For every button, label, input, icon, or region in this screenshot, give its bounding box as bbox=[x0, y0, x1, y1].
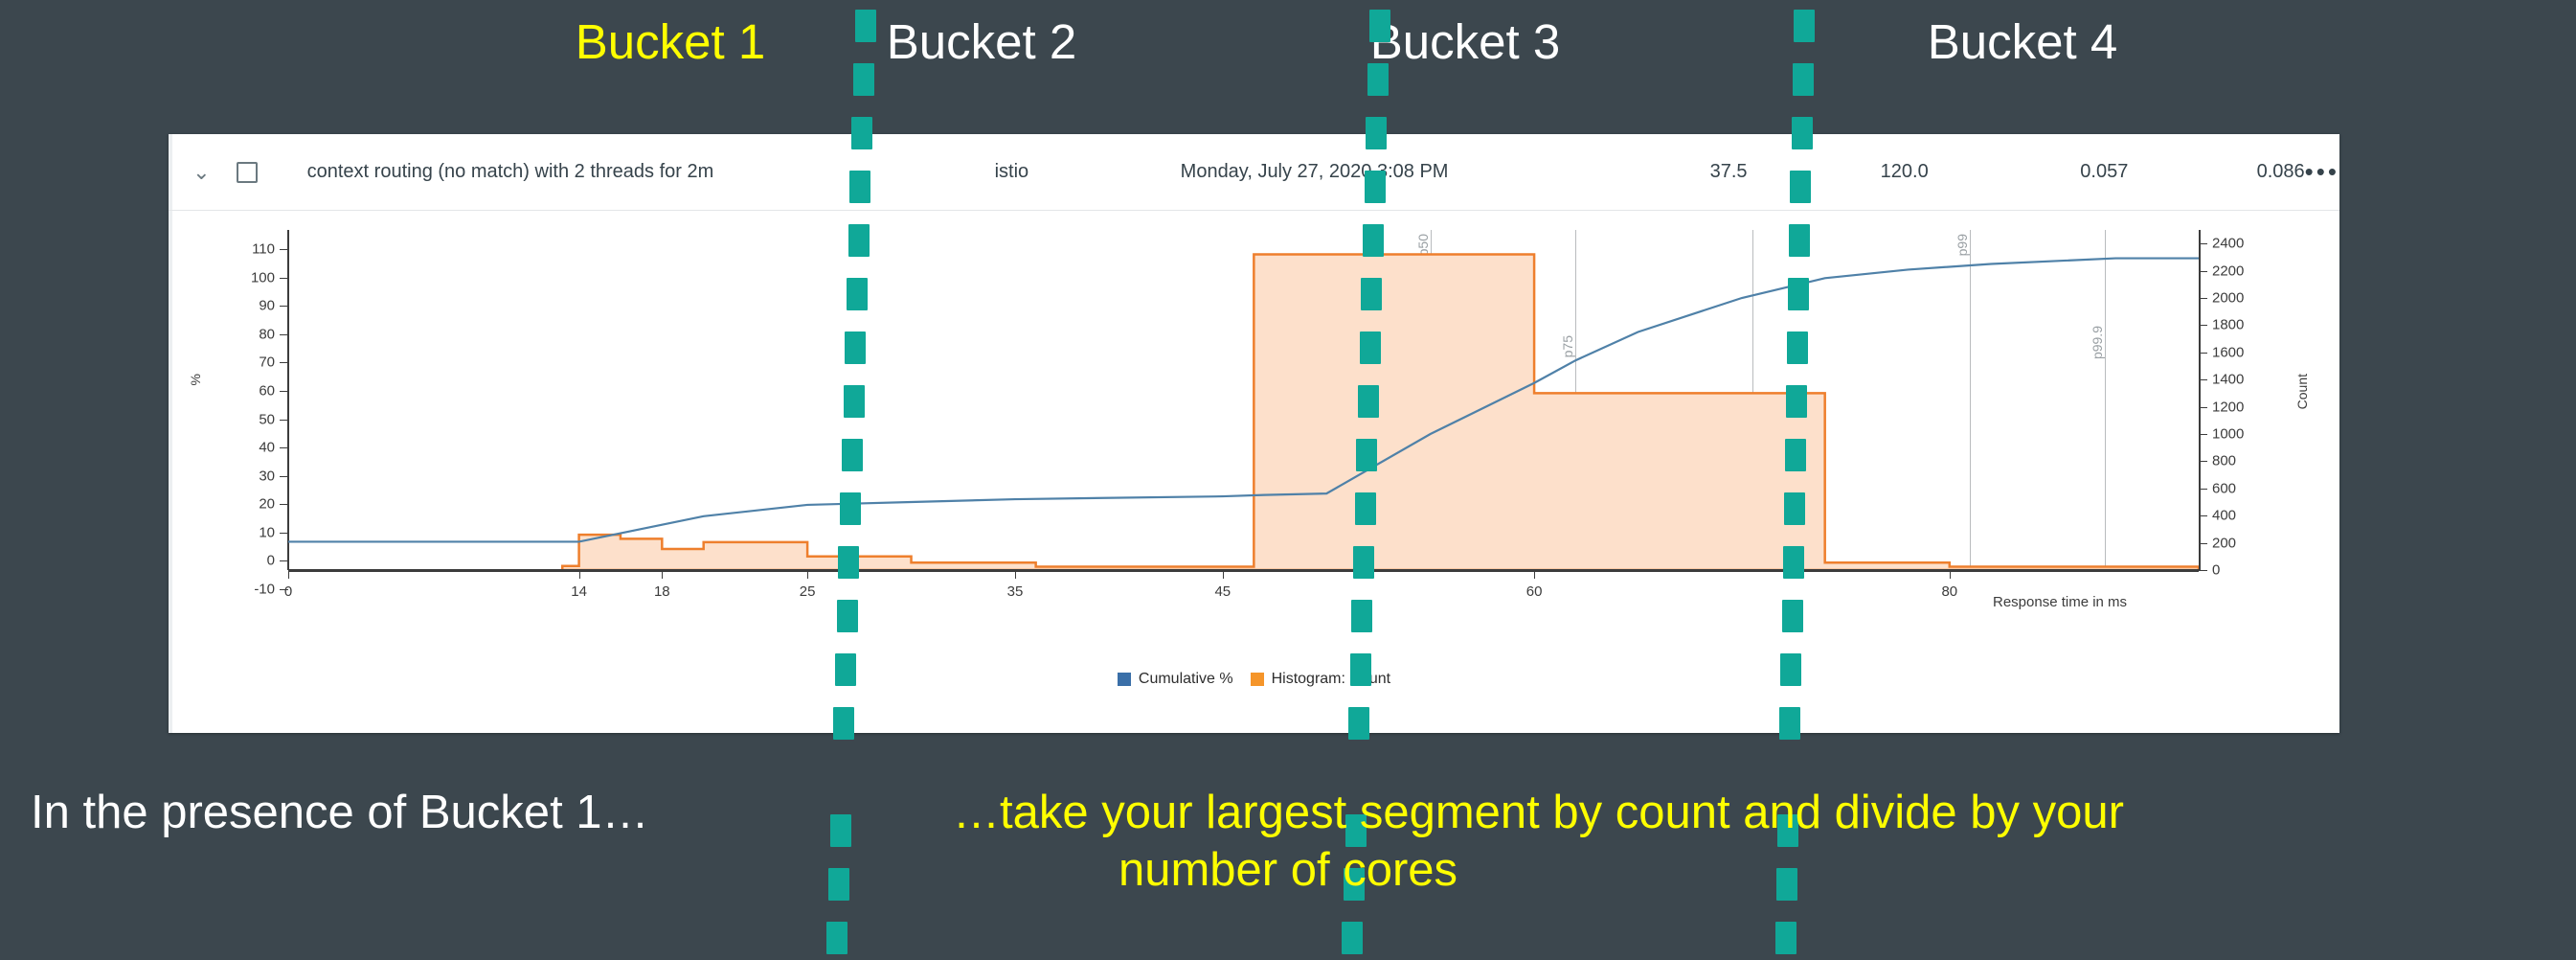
left-axis-tick: 110 bbox=[252, 241, 275, 258]
row-tag: istio bbox=[995, 161, 1181, 183]
plot-area: p50p75p90p99p99.9 bbox=[288, 230, 2199, 570]
chart-legend: Cumulative %Histogram: Count bbox=[169, 671, 2339, 688]
row-value-4: 0.086 bbox=[2128, 161, 2304, 183]
x-axis-tick: 60 bbox=[1526, 583, 1543, 600]
caption-right-line2: number of cores bbox=[0, 841, 2576, 899]
row-date: Monday, July 27, 2020 3:08 PM bbox=[1181, 161, 1552, 183]
left-axis-tick: 80 bbox=[259, 326, 275, 342]
right-axis: 0200400600800100012001400160018002000220… bbox=[2199, 230, 2339, 570]
right-axis-tickmark bbox=[2199, 243, 2207, 244]
legend-label: Cumulative % bbox=[1139, 671, 1233, 688]
right-axis-tick: 1600 bbox=[2212, 344, 2244, 360]
right-axis-tick: 800 bbox=[2212, 453, 2236, 469]
left-axis-title: % bbox=[188, 374, 203, 385]
legend-label: Histogram: Count bbox=[1272, 671, 1391, 688]
x-axis-tickmark bbox=[579, 570, 580, 579]
right-axis-tick: 2400 bbox=[2212, 236, 2244, 252]
caption-right-line1: …take your largest segment by count and … bbox=[953, 784, 2124, 841]
left-axis-tick: 100 bbox=[251, 269, 275, 286]
left-axis-tick: 50 bbox=[259, 411, 275, 427]
row-more-menu-icon[interactable]: ••• bbox=[2305, 157, 2339, 187]
right-axis-tickmark bbox=[2199, 461, 2207, 462]
x-axis-tickmark bbox=[1015, 570, 1016, 579]
chevron-down-icon[interactable]: ⌄ bbox=[180, 160, 223, 185]
x-axis-title: Response time in ms bbox=[1993, 594, 2127, 610]
left-axis: % -100102030405060708090100110 bbox=[169, 230, 288, 570]
legend-swatch-icon bbox=[1251, 673, 1264, 686]
row-name: context routing (no match) with 2 thread… bbox=[307, 161, 995, 183]
cumulative-line bbox=[288, 259, 2199, 542]
legend-item[interactable]: Histogram: Count bbox=[1251, 671, 1391, 688]
x-axis-tick: 35 bbox=[1007, 583, 1024, 600]
x-axis-tickmark bbox=[807, 570, 808, 579]
right-axis-tickmark bbox=[2199, 379, 2207, 380]
left-axis-tick: 30 bbox=[259, 468, 275, 484]
bucket-label-2: Bucket 2 bbox=[847, 13, 1116, 71]
x-axis-tick: 18 bbox=[654, 583, 670, 600]
left-axis-tick: 0 bbox=[267, 553, 275, 569]
x-axis-tickmark bbox=[1534, 570, 1535, 579]
right-axis-tickmark bbox=[2199, 325, 2207, 326]
left-axis-tick: 90 bbox=[259, 298, 275, 314]
divider-dash bbox=[1342, 922, 1363, 954]
right-axis-tick: 2000 bbox=[2212, 290, 2244, 307]
divider-dash bbox=[1775, 922, 1796, 954]
right-axis-tickmark bbox=[2199, 407, 2207, 408]
divider-dash bbox=[1793, 63, 1814, 96]
right-axis-tickmark bbox=[2199, 515, 2207, 516]
bucket-label-4: Bucket 4 bbox=[1888, 13, 2157, 71]
row-value-1: 37.5 bbox=[1552, 161, 1748, 183]
table-row[interactable]: ⌄ context routing (no match) with 2 thre… bbox=[169, 134, 2339, 211]
right-axis-tickmark bbox=[2199, 543, 2207, 544]
right-axis-tickmark bbox=[2199, 434, 2207, 435]
right-axis-title: Count bbox=[2294, 374, 2310, 409]
right-axis-tick: 0 bbox=[2212, 562, 2220, 579]
left-axis-tick: 40 bbox=[259, 440, 275, 456]
right-axis-tick: 1200 bbox=[2212, 399, 2244, 415]
right-axis-tick: 400 bbox=[2212, 508, 2236, 524]
left-axis-tick: -10 bbox=[254, 582, 275, 598]
chart-card: ⌄ context routing (no match) with 2 thre… bbox=[169, 134, 2339, 733]
divider-dash bbox=[1794, 10, 1815, 42]
x-axis-tick: 0 bbox=[284, 583, 292, 600]
legend-item[interactable]: Cumulative % bbox=[1118, 671, 1233, 688]
histogram-plot: % -100102030405060708090100110 p50p75p90… bbox=[169, 211, 2339, 733]
histogram-area bbox=[562, 255, 2199, 570]
legend-swatch-icon bbox=[1118, 673, 1131, 686]
right-axis-tickmark bbox=[2199, 570, 2207, 571]
caption-left: In the presence of Bucket 1… bbox=[31, 784, 649, 841]
bucket-label-1: Bucket 1 bbox=[536, 13, 804, 71]
right-axis-tick: 1400 bbox=[2212, 372, 2244, 388]
left-axis-tick: 20 bbox=[259, 496, 275, 513]
x-axis-tick: 25 bbox=[800, 583, 816, 600]
right-axis-tickmark bbox=[2199, 298, 2207, 299]
right-axis-tick: 1800 bbox=[2212, 317, 2244, 333]
x-axis-tickmark bbox=[662, 570, 663, 579]
x-axis-tickmark bbox=[1223, 570, 1224, 579]
right-axis-tick: 1000 bbox=[2212, 426, 2244, 443]
left-axis-tick: 60 bbox=[259, 382, 275, 399]
slide-root: Bucket 1 Bucket 2 Bucket 3 Bucket 4 ⌄ co… bbox=[0, 0, 2576, 960]
x-axis-tick: 14 bbox=[571, 583, 587, 600]
bucket-label-3: Bucket 3 bbox=[1331, 13, 1599, 71]
right-axis-tick: 200 bbox=[2212, 535, 2236, 551]
x-axis-tickmark bbox=[1950, 570, 1951, 579]
x-axis-tick: 45 bbox=[1214, 583, 1231, 600]
right-axis-tickmark bbox=[2199, 271, 2207, 272]
left-axis-tick: 70 bbox=[259, 354, 275, 371]
row-value-3: 0.057 bbox=[1929, 161, 2129, 183]
chart-svg bbox=[288, 230, 2199, 570]
left-axis-tick: 10 bbox=[259, 524, 275, 540]
x-axis: 014182535456080 bbox=[288, 570, 2199, 608]
x-axis-tick: 80 bbox=[1941, 583, 1957, 600]
right-axis-tick: 2200 bbox=[2212, 263, 2244, 279]
x-axis-tickmark bbox=[288, 570, 289, 579]
right-axis-line bbox=[2199, 230, 2201, 570]
right-axis-tickmark bbox=[2199, 353, 2207, 354]
row-checkbox[interactable] bbox=[237, 162, 258, 183]
row-value-2: 120.0 bbox=[1748, 161, 1929, 183]
right-axis-tick: 600 bbox=[2212, 480, 2236, 496]
divider-dash bbox=[826, 922, 847, 954]
right-axis-tickmark bbox=[2199, 489, 2207, 490]
